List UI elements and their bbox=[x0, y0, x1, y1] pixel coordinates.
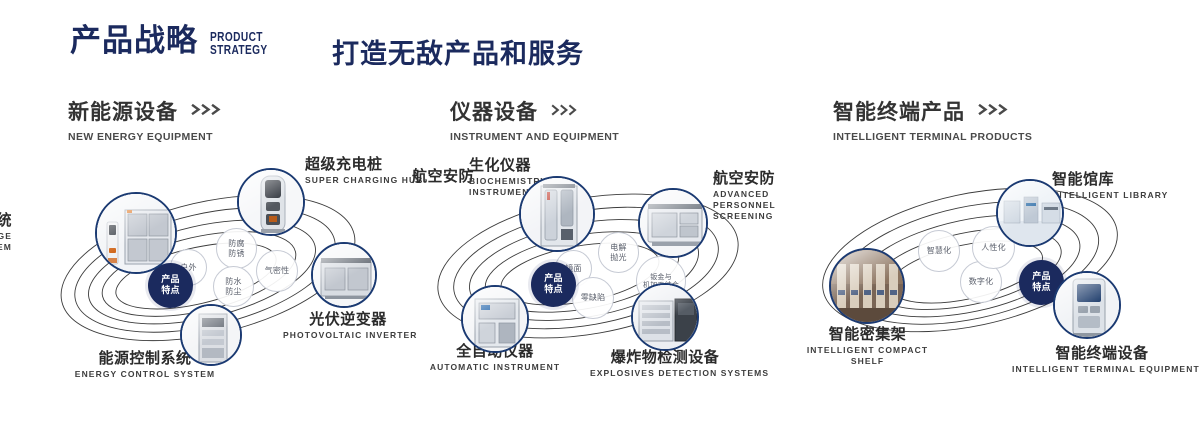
photo-sheen bbox=[640, 190, 706, 256]
page-title: 产品战略 PRODUCT STRATEGY bbox=[70, 26, 284, 57]
photo-sheen bbox=[831, 250, 903, 322]
page-title-en: PRODUCT STRATEGY bbox=[210, 30, 268, 57]
section-title-en: INTELLIGENT TERMINAL PRODUCTS bbox=[833, 131, 1032, 143]
node-super-charging-hub[interactable] bbox=[237, 168, 305, 236]
slide-canvas: 产品战略 PRODUCT STRATEGY 打造无敌产品和服务 新能源设备 NE… bbox=[0, 0, 1200, 422]
photo-sheen bbox=[1055, 273, 1119, 337]
core-badge-product-features: 产品 特点 bbox=[531, 262, 576, 307]
node-intelligent-terminal-equipment[interactable] bbox=[1053, 271, 1121, 339]
photo-sheen bbox=[633, 285, 697, 349]
feature-bubble: 智慧化 bbox=[918, 230, 960, 272]
section-title-cn: 智能终端产品 bbox=[833, 96, 965, 126]
photo-sheen bbox=[97, 194, 175, 272]
node-intelligent-compact-shelf[interactable] bbox=[829, 248, 905, 324]
section-title-intelligent-terminal: 智能终端产品 INTELLIGENT TERMINAL PRODUCTS bbox=[833, 96, 1032, 143]
section-title-en: INSTRUMENT AND EQUIPMENT bbox=[450, 131, 619, 143]
page-subtitle: 打造无敌产品和服务 bbox=[332, 32, 584, 71]
section-title-new-energy: 新能源设备 NEW ENERGY EQUIPMENT bbox=[68, 96, 225, 143]
photo-sheen bbox=[239, 170, 303, 234]
node-energy-control-system[interactable] bbox=[180, 304, 242, 366]
page-title-cn: 产品战略 bbox=[70, 26, 198, 57]
feature-bubble: 零缺陷 bbox=[572, 277, 614, 319]
section-title-cn: 新能源设备 bbox=[68, 96, 178, 126]
photo-sheen bbox=[998, 181, 1062, 245]
feature-bubble: 气密性 bbox=[256, 250, 298, 292]
diagram-new-energy: 户外 防腐 防锈 防水 防尘 气密性 产品 特点 bbox=[0, 146, 400, 406]
orbit-inner-plate-2 bbox=[400, 146, 800, 406]
diagram-intelligent-terminal: 智慧化 数字化 人性化 产品 特点 bbox=[800, 146, 1200, 406]
node-intelligent-library[interactable] bbox=[996, 179, 1064, 247]
chevron-triple-right-icon bbox=[978, 103, 1012, 116]
node-automatic-instrument[interactable] bbox=[461, 285, 529, 353]
chevron-triple-right-icon bbox=[191, 103, 225, 116]
photo-sheen bbox=[313, 244, 375, 306]
section-title-cn: 仪器设备 bbox=[450, 96, 538, 126]
node-biochemistry-instrument[interactable] bbox=[519, 176, 595, 252]
node-advanced-personnel-screening[interactable] bbox=[638, 188, 708, 258]
feature-bubble: 防水 防尘 bbox=[213, 266, 254, 307]
node-photovoltaic-inverter[interactable] bbox=[311, 242, 377, 308]
feature-bubble: 防腐 防锈 bbox=[216, 228, 257, 269]
page-title-en-line2: STRATEGY bbox=[210, 43, 268, 56]
photo-sheen bbox=[182, 306, 240, 364]
photo-sheen bbox=[521, 178, 593, 250]
section-title-instrument: 仪器设备 INSTRUMENT AND EQUIPMENT bbox=[450, 96, 619, 143]
feature-bubble: 电解 抛光 bbox=[598, 232, 639, 273]
node-energy-storage-system[interactable] bbox=[95, 192, 177, 274]
diagram-instrument: 镜面 电解 抛光 零缺陷 钣金与 机加工结合 产品 特点 bbox=[400, 146, 800, 406]
photo-sheen bbox=[463, 287, 527, 351]
chevron-triple-right-icon bbox=[551, 104, 581, 116]
section-title-en: NEW ENERGY EQUIPMENT bbox=[68, 131, 225, 143]
node-explosives-detection-systems[interactable] bbox=[631, 283, 699, 351]
page-title-en-line1: PRODUCT bbox=[210, 30, 268, 43]
